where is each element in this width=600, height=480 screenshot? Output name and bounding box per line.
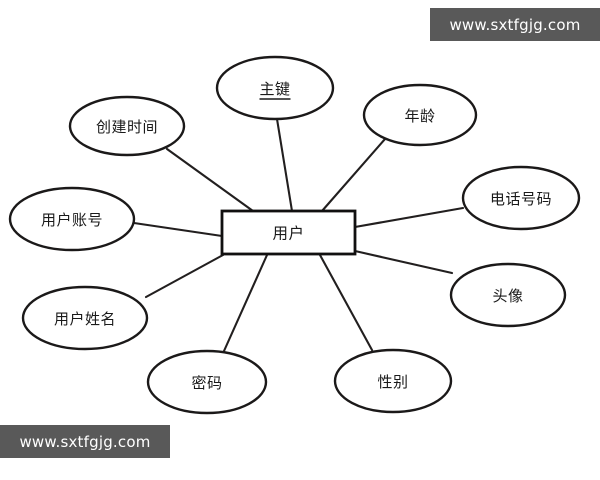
connector-line-gender [320, 255, 372, 350]
attribute-node-gender[interactable]: 性别 [335, 350, 451, 412]
attribute-label-primary-key: 主键 [259, 80, 290, 98]
attribute-node-phone-number[interactable]: 电话号码 [463, 167, 579, 229]
connector-line-phone-number [355, 208, 463, 227]
attribute-label-user-name: 用户姓名 [54, 310, 116, 328]
connector-line-create-time [167, 149, 253, 211]
attribute-node-user-name[interactable]: 用户姓名 [23, 287, 147, 349]
attribute-label-avatar: 头像 [492, 287, 523, 305]
attribute-label-gender: 性别 [377, 373, 408, 391]
attribute-node-primary-key[interactable]: 主键 [217, 57, 333, 119]
attribute-label-user-account: 用户账号 [41, 211, 103, 229]
connector-line-user-account [134, 223, 222, 236]
entity-layer: 用户 [222, 211, 355, 254]
attribute-node-user-account[interactable]: 用户账号 [10, 188, 134, 250]
attribute-node-age[interactable]: 年龄 [364, 85, 476, 145]
attribute-label-create-time: 创建时间 [96, 118, 158, 136]
entity-label: 用户 [272, 225, 304, 243]
connector-line-avatar [355, 251, 452, 273]
connector-line-primary-key [277, 119, 292, 211]
attribute-label-phone-number: 电话号码 [490, 190, 552, 208]
connector-line-user-name [146, 255, 223, 297]
watermark-top: www.sxtfgjg.com [430, 8, 600, 41]
er-diagram-svg: 主键年龄创建时间电话号码用户账号头像用户姓名密码性别 用户 [0, 0, 600, 480]
attribute-node-avatar[interactable]: 头像 [451, 264, 565, 326]
er-diagram-canvas: 主键年龄创建时间电话号码用户账号头像用户姓名密码性别 用户 www.sxtfgj… [0, 0, 600, 480]
attribute-node-create-time[interactable]: 创建时间 [70, 97, 184, 155]
connector-line-age [322, 139, 385, 211]
attribute-label-password: 密码 [191, 374, 222, 392]
watermark-bottom: www.sxtfgjg.com [0, 425, 170, 458]
attribute-node-password[interactable]: 密码 [148, 351, 266, 413]
connector-line-password [224, 255, 267, 351]
entity-node[interactable]: 用户 [222, 211, 355, 254]
attribute-label-age: 年龄 [404, 107, 435, 125]
